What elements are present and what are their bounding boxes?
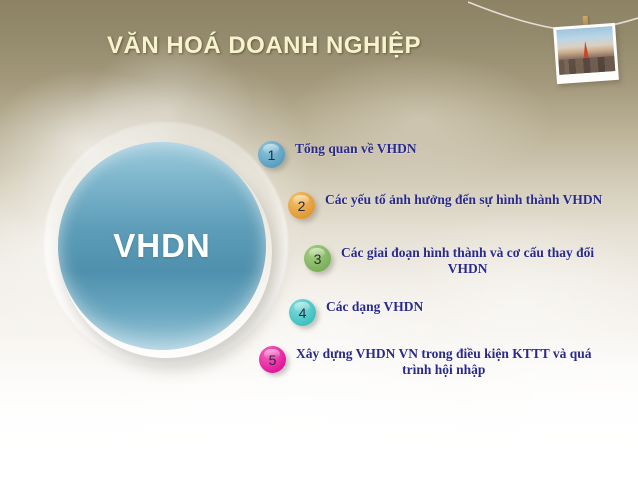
page-title: VĂN HOÁ DOANH NGHIỆP [0, 32, 638, 60]
list-item[interactable]: 4 Các dạng VHDN [289, 299, 423, 326]
item-number: 4 [299, 305, 307, 321]
item-number: 5 [269, 352, 277, 368]
list-item[interactable]: 2 Các yếu tố ảnh hưởng đến sự hình thành… [288, 192, 602, 219]
item-label: Các dạng VHDN [326, 299, 423, 315]
item-label: Tổng quan về VHDN [295, 141, 417, 157]
list-item[interactable]: 1 Tổng quan về VHDN [258, 141, 417, 168]
item-label: Các yếu tố ảnh hưởng đến sự hình thành V… [325, 192, 602, 208]
item-number-badge[interactable]: 4 [289, 299, 316, 326]
list-item[interactable]: 5 Xây dựng VHDN VN trong điều kiện KTTT … [259, 346, 592, 378]
item-number-badge[interactable]: 3 [304, 245, 331, 272]
item-number-badge[interactable]: 5 [259, 346, 286, 373]
item-number: 1 [268, 147, 276, 163]
center-circle-label: VHDN [113, 227, 211, 265]
item-number: 3 [314, 251, 322, 267]
item-label: Xây dựng VHDN VN trong điều kiện KTTT và… [296, 346, 592, 378]
list-item[interactable]: 3 Các giai đoạn hình thành và cơ cấu tha… [304, 245, 594, 277]
item-label: Các giai đoạn hình thành và cơ cấu thay … [341, 245, 594, 277]
item-number-badge[interactable]: 2 [288, 192, 315, 219]
item-number: 2 [298, 198, 306, 214]
item-number-badge[interactable]: 1 [258, 141, 285, 168]
center-circle: VHDN [58, 142, 266, 350]
slide-canvas: VĂN HOÁ DOANH NGHIỆP VHDN 1 Tổng quan về… [0, 0, 638, 479]
